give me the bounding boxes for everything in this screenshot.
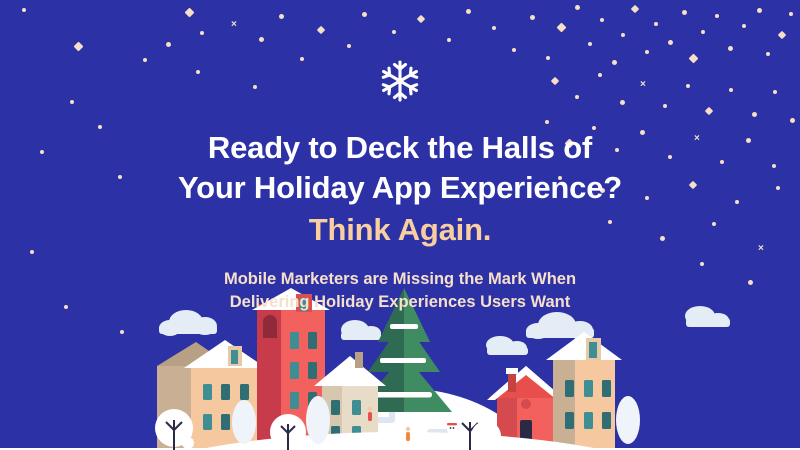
- holiday-marketing-graphic: ××××: [0, 0, 800, 450]
- hero-text-block: Ready to Deck the Halls of Your Holiday …: [0, 128, 800, 315]
- subhead-line-2: Delivering Holiday Experiences Users Wan…: [230, 293, 571, 311]
- headline-line-1: Ready to Deck the Halls of: [208, 130, 592, 165]
- headline-accent: Think Again.: [0, 210, 800, 250]
- subhead-line-1: Mobile Marketers are Missing the Mark Wh…: [224, 270, 576, 288]
- skier-red: [368, 407, 372, 421]
- snow-ground: [0, 432, 800, 450]
- headline-line-2: Your Holiday App Experience?: [178, 170, 622, 205]
- skier-orange: [406, 427, 410, 441]
- page-title: Ready to Deck the Halls of Your Holiday …: [0, 128, 800, 207]
- subheadline: Mobile Marketers are Missing the Mark Wh…: [0, 268, 800, 315]
- building-peach-right: [546, 332, 622, 450]
